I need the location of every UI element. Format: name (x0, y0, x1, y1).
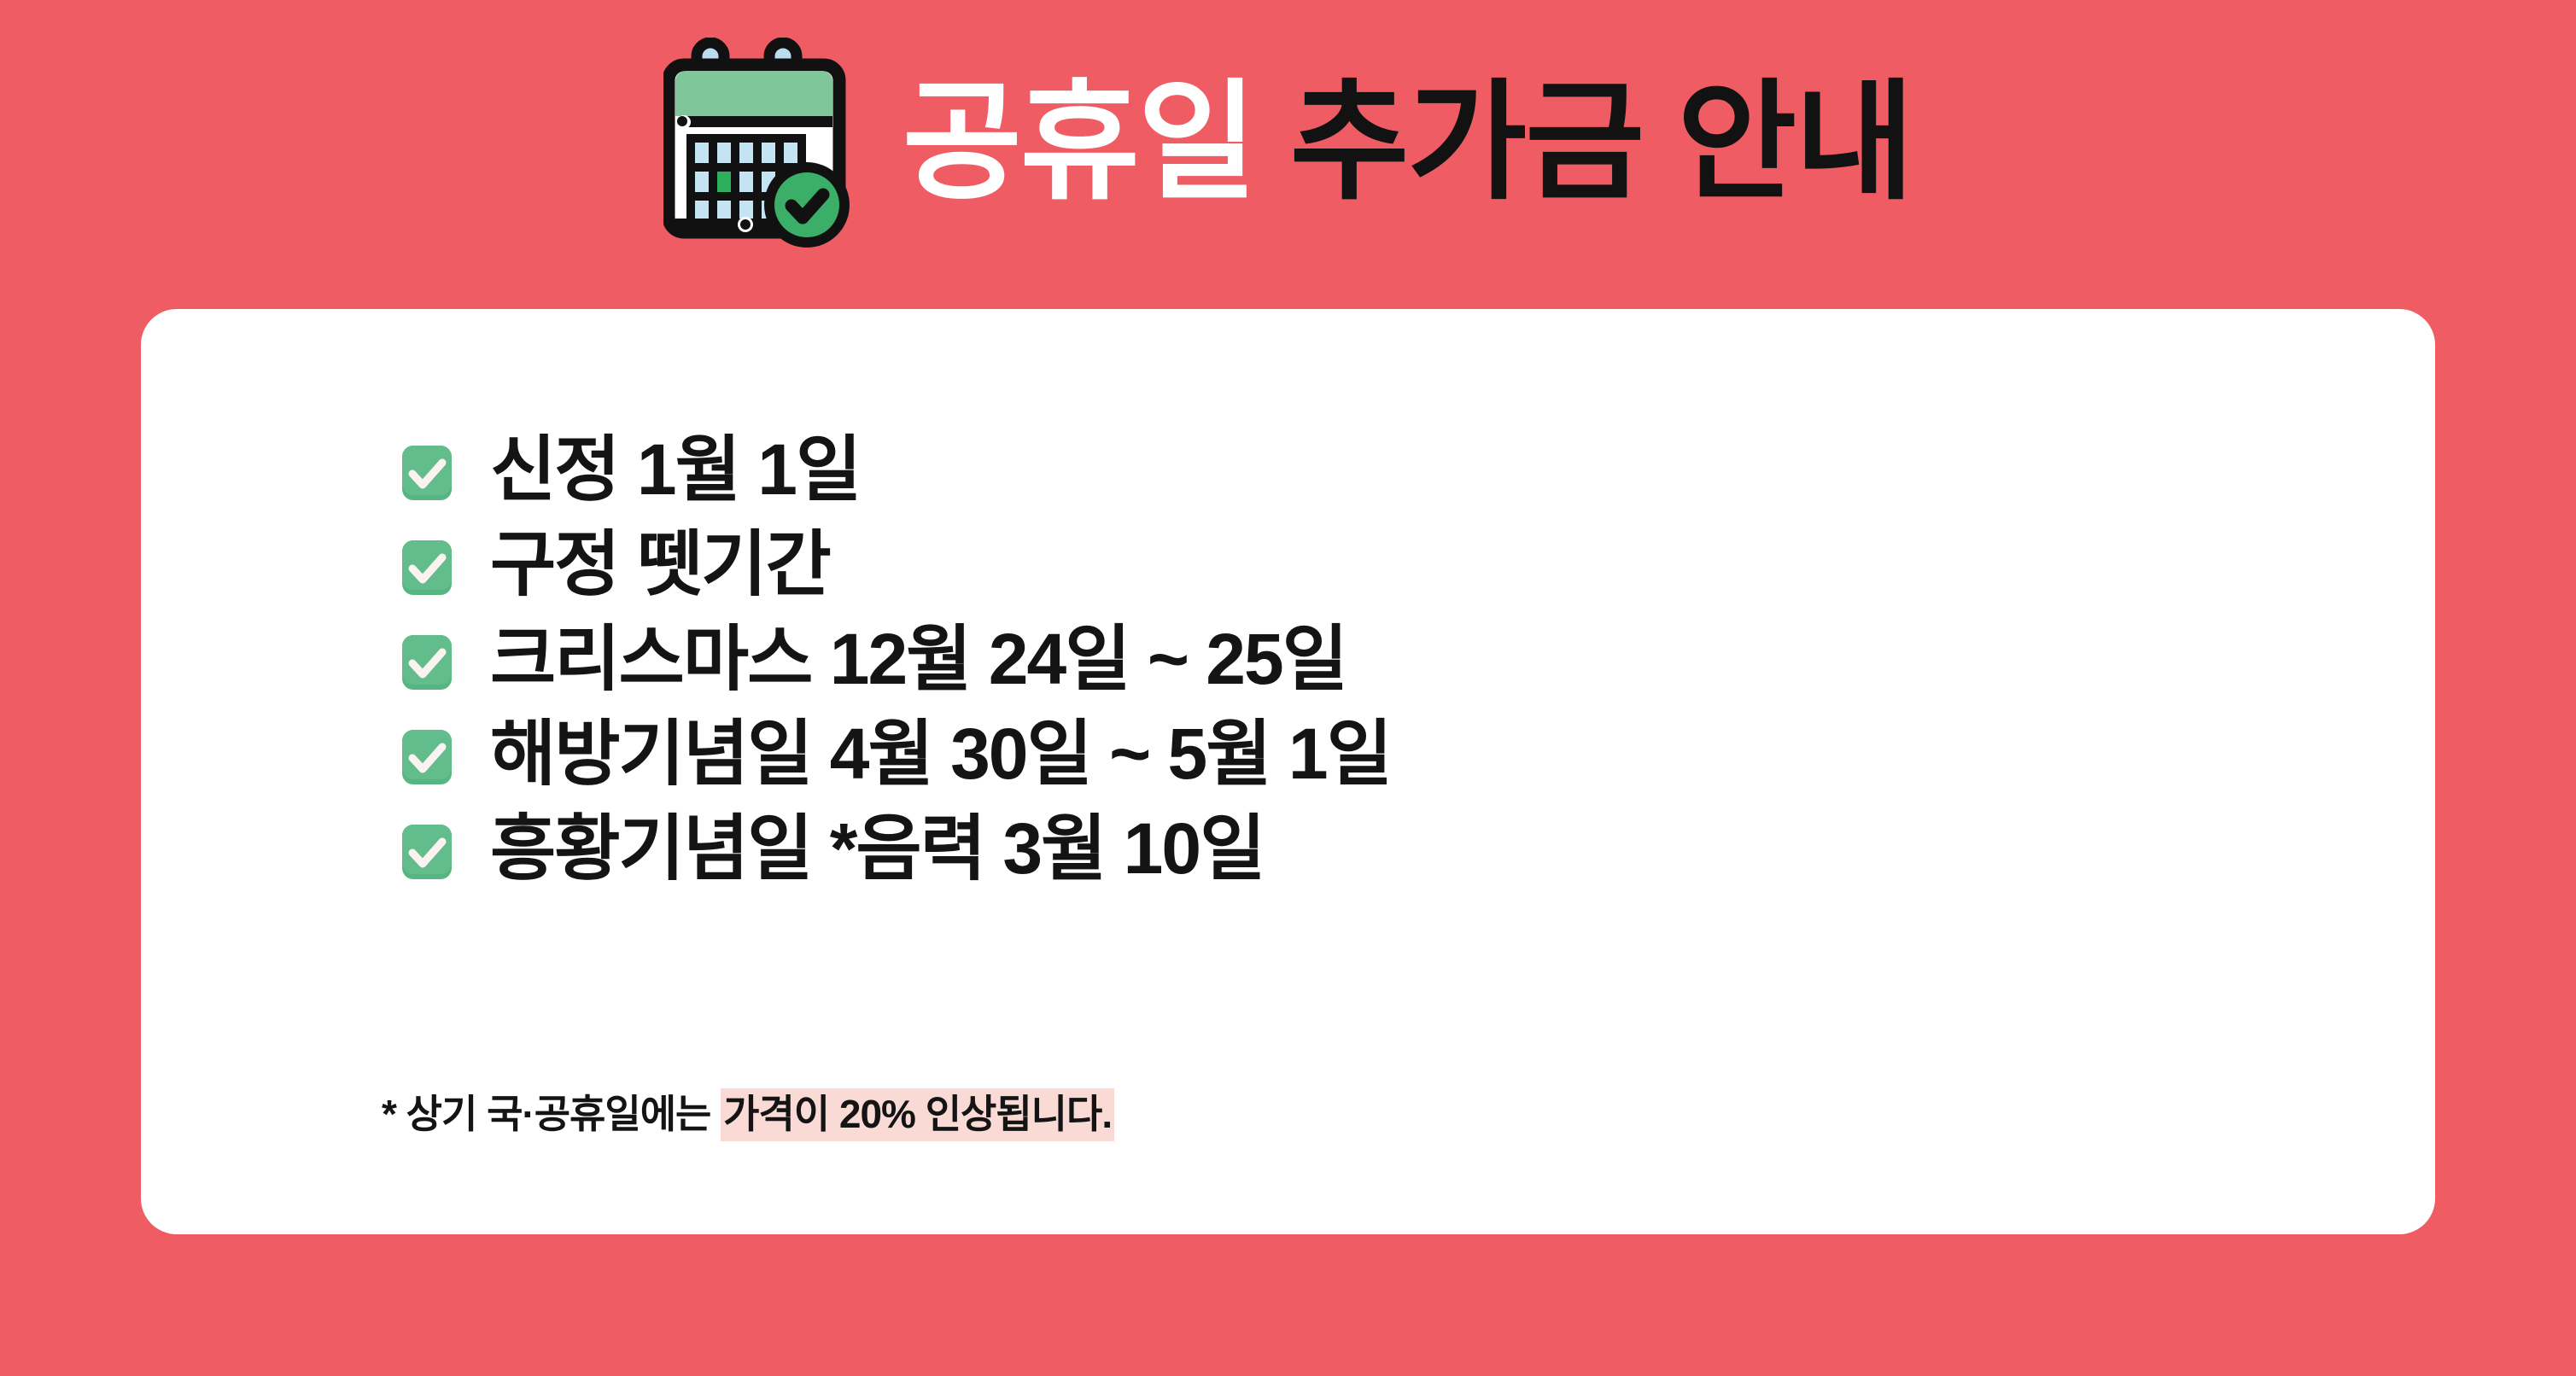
check-square-icon (401, 634, 453, 691)
check-square-icon (401, 445, 453, 501)
page-title-black: 추가금 안내 (1290, 70, 1913, 215)
footnote-prefix: * 상기 국·공휴일에는 (382, 1092, 721, 1136)
check-square-icon (401, 824, 453, 880)
holiday-list: 신정 1월 1일 구정 뗏기간 크리스마스 12월 24일 ~ 25일 해방기념… (401, 425, 1391, 899)
list-item-label: 구정 뗏기간 (490, 528, 830, 600)
check-square-icon (401, 539, 453, 596)
list-item-label: 크리스마스 12월 24일 ~ 25일 (490, 623, 1346, 695)
footnote-highlight: 가격이 20% 인상됩니다. (721, 1088, 1114, 1141)
info-card: 신정 1월 1일 구정 뗏기간 크리스마스 12월 24일 ~ 25일 해방기념… (141, 309, 2435, 1234)
list-item-4: 흥황기념일 *음력 3월 10일 (401, 804, 1391, 899)
list-item-3: 해방기념일 4월 30일 ~ 5월 1일 (401, 709, 1391, 804)
list-item-2: 크리스마스 12월 24일 ~ 25일 (401, 615, 1391, 709)
footnote: * 상기 국·공휴일에는 가격이 20% 인상됩니다. (382, 1089, 1114, 1140)
page-title: 공휴일 추가금 안내 (902, 78, 1913, 207)
list-item-label: 흥황기념일 *음력 3월 10일 (490, 813, 1264, 884)
list-item-label: 신정 1월 1일 (490, 434, 860, 505)
page-title-white: 공휴일 (902, 70, 1256, 215)
header-banner: 공휴일 추가금 안내 (0, 0, 2576, 282)
list-item-label: 해방기념일 4월 30일 ~ 5월 1일 (490, 718, 1391, 790)
list-item-1: 구정 뗏기간 (401, 520, 1391, 615)
list-item-0: 신정 1월 1일 (401, 425, 1391, 520)
check-square-icon (401, 729, 453, 785)
calendar-check-icon (663, 38, 862, 249)
